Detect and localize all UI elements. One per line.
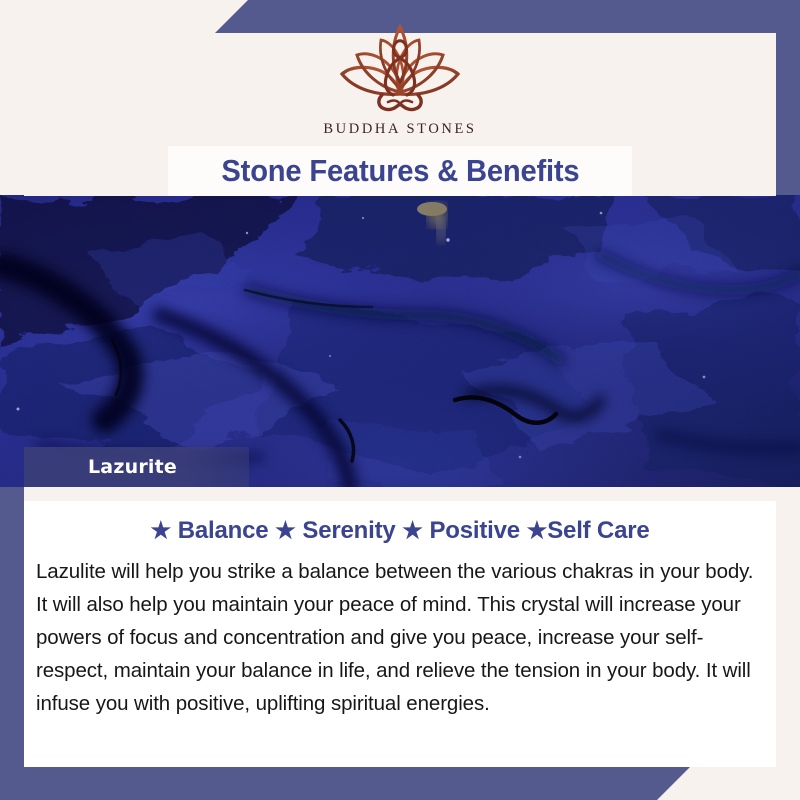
title-banner: Stone Features & Benefits xyxy=(168,146,632,196)
decor-navy-bottom-band xyxy=(0,767,690,800)
stone-info-card: BUDDHA STONES Stone Features & Benefits … xyxy=(0,0,800,800)
stone-nameplate: Lazurite xyxy=(24,447,249,487)
star-icon: ★ xyxy=(527,517,548,543)
keyword-list: ★ Balance ★ Serenity ★ Positive ★Self Ca… xyxy=(24,517,776,545)
description-panel: ★ Balance ★ Serenity ★ Positive ★Self Ca… xyxy=(24,487,776,767)
brand-block: BUDDHA STONES xyxy=(0,0,800,138)
lotus-meditation-figure-icon xyxy=(325,22,475,119)
stone-name: Lazurite xyxy=(88,456,177,478)
keyword-self-care: Self Care xyxy=(547,517,649,544)
page-title: Stone Features & Benefits xyxy=(221,153,579,189)
keyword-serenity: Serenity xyxy=(302,517,395,544)
decor-navy-left-border xyxy=(0,487,24,777)
keyword-balance: Balance xyxy=(178,517,269,544)
stone-description: Lazulite will help you strike a balance … xyxy=(36,555,754,720)
keyword-positive: Positive xyxy=(430,517,520,544)
star-icon: ★ xyxy=(275,517,296,543)
brand-name: BUDDHA STONES xyxy=(323,121,476,138)
lazurite-stone-photo xyxy=(0,195,800,487)
panel-top-strip xyxy=(24,487,776,501)
star-icon: ★ xyxy=(150,517,171,543)
star-icon: ★ xyxy=(402,517,423,543)
